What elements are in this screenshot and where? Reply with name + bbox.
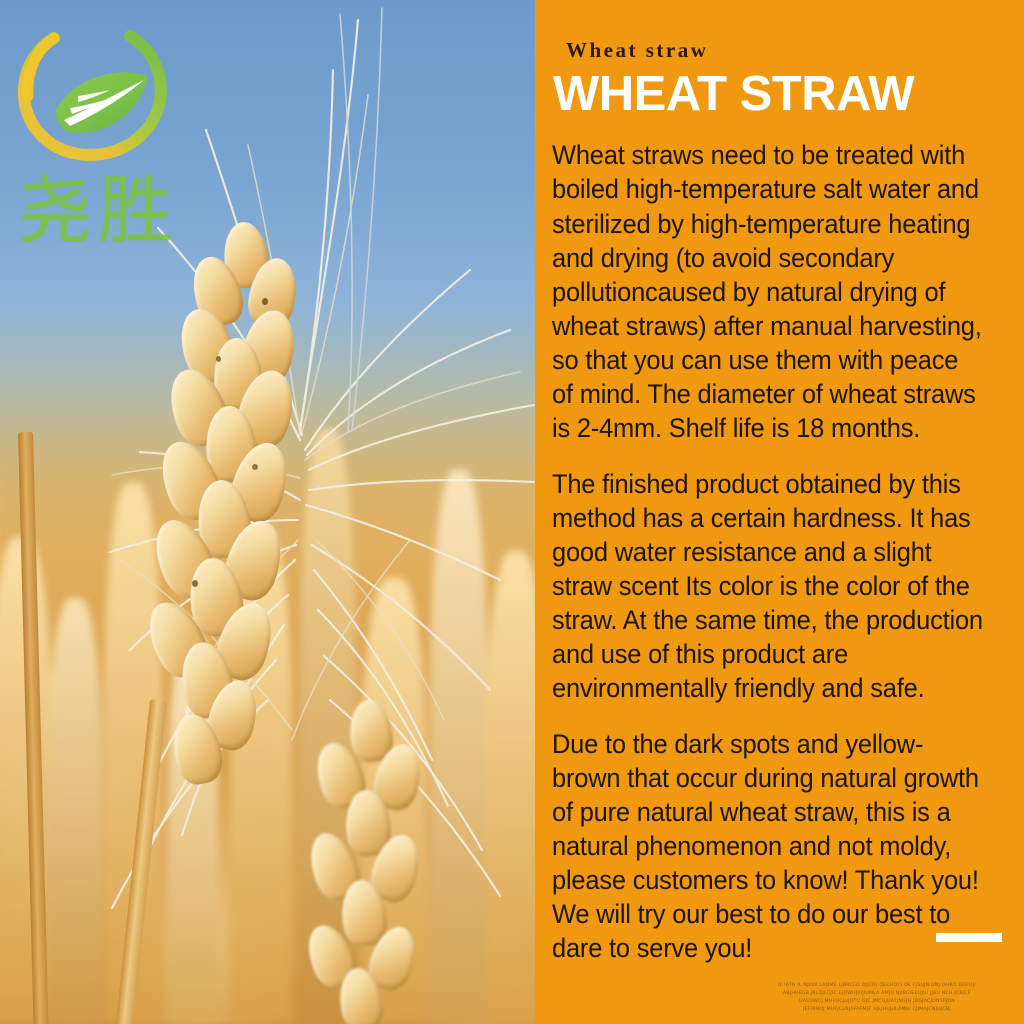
white-accent-bar <box>936 933 1002 942</box>
product-infographic: 尧胜 Wheat straw WHEAT STRAW Wheat straws … <box>0 0 1024 1024</box>
decorative-microtext: IL IATH IL NJIOA LADME LJBRCEO DJOTU QEC… <box>750 982 1004 1014</box>
description-paragraph-2: The finished product obtained by this me… <box>552 467 984 705</box>
description-paragraph-3: Due to the dark spots and yellow-brown t… <box>552 727 984 965</box>
brand-logo: 尧胜 <box>12 14 222 274</box>
microtext-line: ABJHHEGB JBLDJLCJIC EJOWHJIIIJIUMLA AMJU… <box>750 990 1004 998</box>
secondary-wheat-ear <box>290 700 460 1024</box>
page-title: WHEAT STRAW <box>553 69 1002 120</box>
eyebrow-label: Wheat straw <box>566 38 1002 63</box>
microtext-line: UAEOWCJ MHFOCJUJOTU GJC JMCGJUATJNGJH JD… <box>750 998 1004 1006</box>
circle-leaf-logo-icon <box>12 14 187 179</box>
product-description-panel: Wheat straw WHEAT STRAW Wheat straws nee… <box>535 0 1024 1024</box>
microtext-line: JEFIBNOJ MUFJCLNJAFAFMJE AJLJHUJULAMJU C… <box>750 1006 1004 1014</box>
microtext-line: IL IATH IL NJIOA LADME LJBRCEO DJOTU QEC… <box>750 982 1004 990</box>
description-paragraph-1: Wheat straws need to be treated with boi… <box>552 138 984 444</box>
brand-characters: 尧胜 <box>18 174 178 248</box>
wheat-field-photo: 尧胜 <box>0 0 535 1024</box>
